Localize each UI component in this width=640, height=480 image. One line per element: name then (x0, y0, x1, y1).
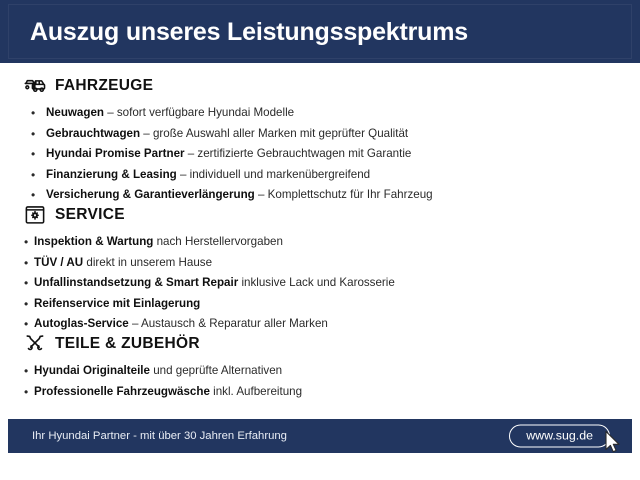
section-teile-zubehoer: TEILE & ZUBEHÖR Hyundai Originalteile un… (24, 333, 622, 402)
section-title-service: SERVICE (55, 206, 125, 224)
section-title-teile-zubehoer: TEILE & ZUBEHÖR (55, 335, 200, 353)
list-item: Unfallinstandsetzung & Smart Repair inkl… (24, 273, 622, 294)
list-item: Hyundai Originalteile und geprüfte Alter… (24, 361, 622, 382)
section-title-fahrzeuge: FAHRZEUGE (55, 77, 153, 95)
list-item: Reifenservice mit Einlagerung (24, 294, 622, 315)
bullet-list-teile-zubehoer: Hyundai Originalteile und geprüfte Alter… (24, 361, 622, 402)
list-item-bold: Professionelle Fahrzeugwäsche (34, 385, 210, 398)
section-service: SERVICE Inspektion & Wartung nach Herste… (24, 204, 622, 335)
list-item-bold: Neuwagen (46, 106, 104, 119)
list-item-rest: und geprüfte Alternativen (150, 364, 282, 377)
section-header-fahrzeuge: FAHRZEUGE (24, 75, 622, 97)
gear-in-box-icon (24, 204, 46, 226)
list-item-bold: Reifenservice mit Einlagerung (34, 297, 200, 310)
list-item-rest: – individuell und markenübergreifend (177, 168, 370, 181)
list-item-bold: Hyundai Originalteile (34, 364, 150, 377)
section-header-teile-zubehoer: TEILE & ZUBEHÖR (24, 333, 622, 355)
footer-bar: Ihr Hyundai Partner - mit über 30 Jahren… (8, 419, 632, 453)
list-item-rest: inkl. Aufbereitung (210, 385, 302, 398)
bullet-list-service: Inspektion & Wartung nach Herstellervorg… (24, 232, 622, 335)
crossed-tools-icon (24, 333, 46, 355)
list-item-rest: – Austausch & Reparatur aller Marken (129, 317, 328, 330)
list-item-rest: – Komplettschutz für Ihr Fahrzeug (255, 188, 433, 201)
list-item-bold: Finanzierung & Leasing (46, 168, 177, 181)
section-header-service: SERVICE (24, 204, 622, 226)
footer-tagline: Ihr Hyundai Partner - mit über 30 Jahren… (32, 430, 287, 442)
list-item-bold: Autoglas-Service (34, 317, 129, 330)
list-item-rest: inklusive Lack und Karosserie (238, 276, 395, 289)
list-item: TÜV / AU direkt in unserem Hause (24, 253, 622, 274)
list-item: Professionelle Fahrzeugwäsche inkl. Aufb… (24, 382, 622, 403)
content-area: FAHRZEUGE Neuwagen – sofort verfügbare H… (0, 63, 640, 415)
list-item-bold: Inspektion & Wartung (34, 235, 153, 248)
list-item-rest: – zertifizierte Gebrauchtwagen mit Garan… (185, 147, 412, 160)
two-cars-icon (24, 75, 46, 97)
list-item-bold: Hyundai Promise Partner (46, 147, 185, 160)
page-title: Auszug unseres Leistungsspektrums (30, 18, 468, 47)
list-item: Gebrauchtwagen – große Auswahl aller Mar… (24, 124, 622, 145)
list-item: Hyundai Promise Partner – zertifizierte … (24, 144, 622, 165)
list-item: Autoglas-Service – Austausch & Reparatur… (24, 314, 622, 335)
list-item-rest: direkt in unserem Hause (83, 256, 212, 269)
list-item-rest: – große Auswahl aller Marken mit geprüft… (140, 127, 408, 140)
list-item: Finanzierung & Leasing – individuell und… (24, 165, 622, 186)
slide-root: Auszug unseres Leistungsspektrums (0, 0, 640, 480)
list-item-rest: – sofort verfügbare Hyundai Modelle (104, 106, 294, 119)
website-button[interactable]: www.sug.de (509, 425, 610, 448)
list-item-bold: Versicherung & Garantieverlängerung (46, 188, 255, 201)
list-item-bold: Unfallinstandsetzung & Smart Repair (34, 276, 238, 289)
section-fahrzeuge: FAHRZEUGE Neuwagen – sofort verfügbare H… (24, 75, 622, 206)
list-item-bold: TÜV / AU (34, 256, 83, 269)
list-item-rest: nach Herstellervorgaben (153, 235, 283, 248)
header-bar: Auszug unseres Leistungsspektrums (0, 0, 640, 63)
list-item: Versicherung & Garantieverlängerung – Ko… (24, 185, 622, 206)
list-item-bold: Gebrauchtwagen (46, 127, 140, 140)
bullet-list-fahrzeuge: Neuwagen – sofort verfügbare Hyundai Mod… (24, 103, 622, 206)
list-item: Inspektion & Wartung nach Herstellervorg… (24, 232, 622, 253)
list-item: Neuwagen – sofort verfügbare Hyundai Mod… (24, 103, 622, 124)
